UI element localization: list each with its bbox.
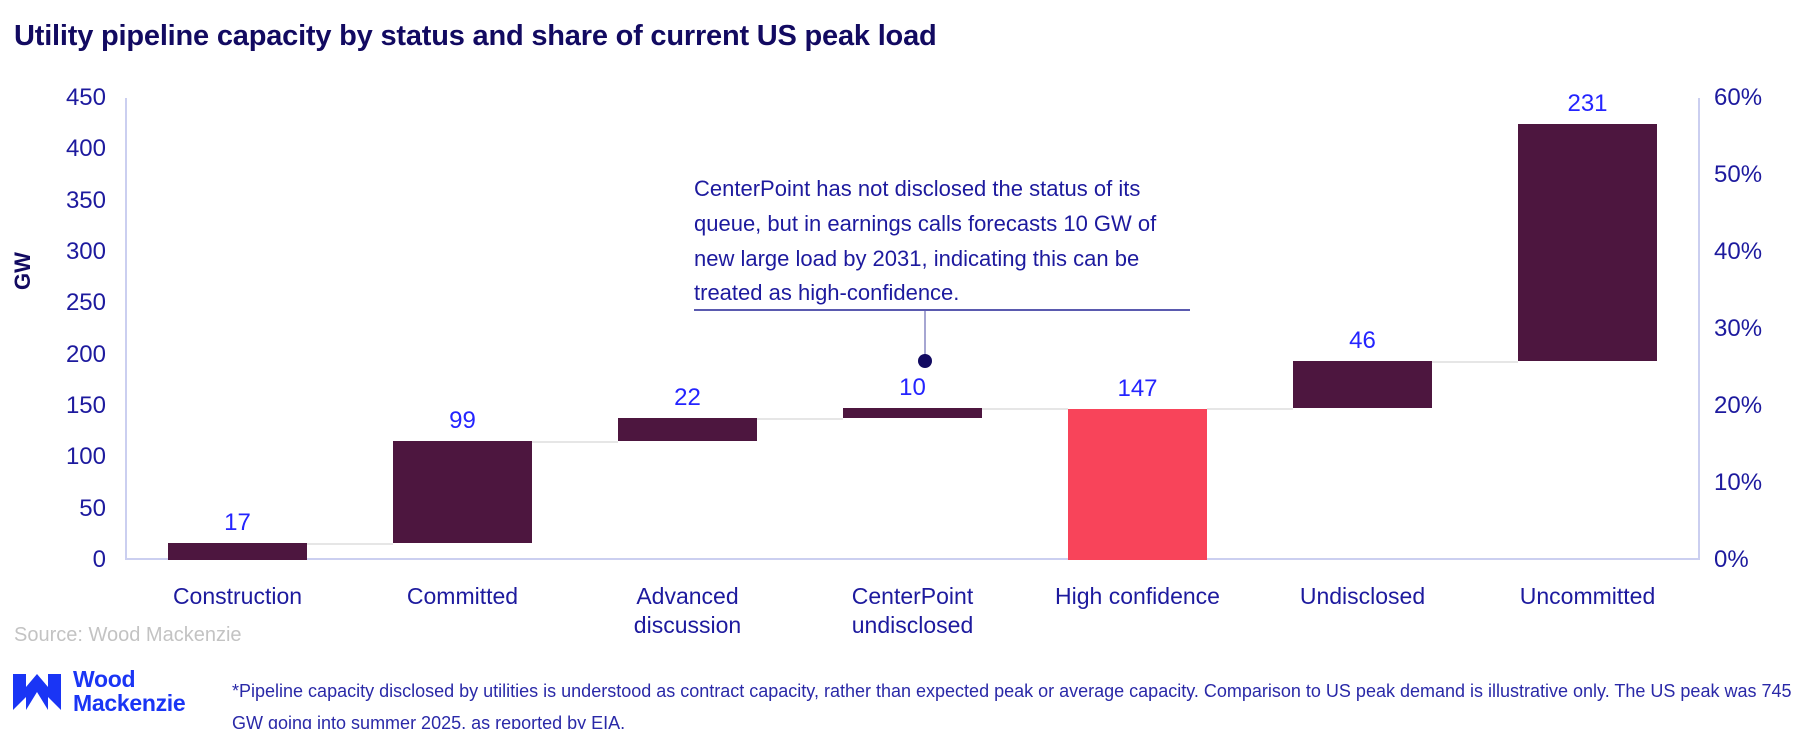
x-label-construction: Construction: [125, 582, 350, 611]
footnote: *Pipeline capacity disclosed by utilitie…: [232, 676, 1792, 729]
y-tick-left: 50: [22, 495, 106, 523]
woodmac-logo-text: Wood Mackenzie: [73, 668, 185, 715]
waterfall-connector: [982, 408, 1068, 410]
y-tick-left: 250: [22, 289, 106, 317]
bar-committed[interactable]: [393, 441, 533, 543]
x-label-high-confidence: High confidence: [1025, 582, 1250, 611]
bar-advanced-discussion[interactable]: [618, 418, 758, 441]
x-label-uncommitted: Uncommitted: [1475, 582, 1700, 611]
x-label-centerpoint-undisclosed: CenterPoint undisclosed: [800, 582, 1025, 640]
bar-high-confidence[interactable]: [1068, 409, 1208, 560]
y-tick-left: 450: [22, 84, 106, 112]
chart-page: Utility pipeline capacity by status and …: [0, 0, 1800, 729]
annotation-leader-line: [924, 311, 926, 355]
y-tick-right: 30%: [1714, 315, 1800, 343]
x-label-undisclosed: Undisclosed: [1250, 582, 1475, 611]
y-tick-right: 10%: [1714, 469, 1800, 497]
bar-undisclosed[interactable]: [1293, 361, 1433, 408]
y-tick-right: 0%: [1714, 546, 1800, 574]
bar-value-label: 17: [224, 509, 251, 537]
waterfall-connector: [757, 418, 843, 420]
y-tick-left: 300: [22, 238, 106, 266]
x-label-committed: Committed: [350, 582, 575, 611]
source-caption: Source: Wood Mackenzie: [14, 624, 242, 647]
bar-value-label: 231: [1567, 90, 1607, 118]
waterfall-connector: [1207, 408, 1293, 410]
annotation-anchor-dot: [918, 354, 932, 368]
logo-line-2: Mackenzie: [73, 692, 185, 716]
bar-value-label: 10: [899, 374, 926, 402]
y-tick-right: 20%: [1714, 392, 1800, 420]
y-axis-left-line: [125, 98, 127, 560]
waterfall-connector: [307, 543, 393, 545]
y-tick-left: 350: [22, 187, 106, 215]
y-tick-right: 50%: [1714, 161, 1800, 189]
bar-value-label: 99: [449, 407, 476, 435]
bar-uncommitted[interactable]: [1518, 124, 1658, 361]
bar-construction[interactable]: [168, 543, 308, 560]
plot-area: [125, 98, 1700, 560]
y-tick-left: 400: [22, 135, 106, 163]
y-tick-left: 100: [22, 443, 106, 471]
annotation-text: CenterPoint has not disclosed the status…: [694, 172, 1194, 311]
bar-value-label: 46: [1349, 327, 1376, 355]
waterfall-connector: [1432, 361, 1518, 363]
annotation-rule: [694, 309, 1190, 311]
y-tick-right: 40%: [1714, 238, 1800, 266]
waterfall-connector: [532, 441, 618, 443]
y-axis-right-line: [1698, 98, 1700, 560]
y-tick-left: 200: [22, 341, 106, 369]
bar-centerpoint-undisclosed[interactable]: [843, 408, 983, 418]
y-tick-left: 150: [22, 392, 106, 420]
page-title: Utility pipeline capacity by status and …: [14, 20, 937, 53]
logo-line-1: Wood: [73, 668, 185, 692]
x-label-advanced-discussion: Advanced discussion: [575, 582, 800, 640]
x-axis-line: [125, 558, 1700, 560]
woodmac-logo: Wood Mackenzie: [12, 668, 185, 715]
woodmac-logo-icon: [12, 671, 62, 713]
bar-value-label: 22: [674, 384, 701, 412]
y-tick-right: 60%: [1714, 84, 1800, 112]
bar-value-label: 147: [1117, 375, 1157, 403]
y-tick-left: 0: [22, 546, 106, 574]
